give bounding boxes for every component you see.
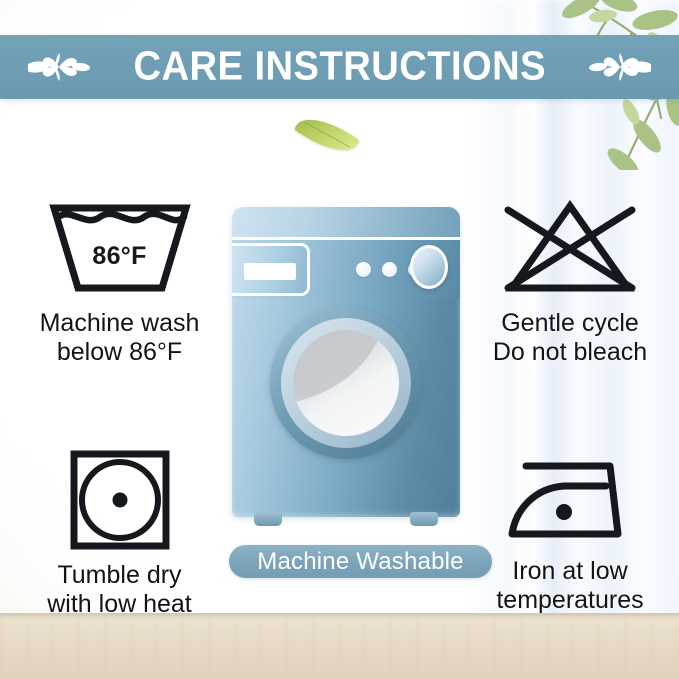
table-surface-grain (0, 619, 679, 679)
symbol-do-not-bleach: Gentle cycle Do not bleach (470, 196, 670, 367)
symbol-iron: Iron at low temperatures (470, 452, 670, 615)
machine-door-highlight (293, 330, 399, 404)
header-banner: CARE INSTRUCTIONS (0, 35, 679, 99)
symbol-caption: Iron at low temperatures (470, 557, 670, 615)
care-instructions-infographic: CARE INSTRUCTIONS 86°F (0, 0, 679, 679)
wash-tub-icon: 86°F (12, 196, 227, 300)
badge-label: Machine Washable (257, 548, 463, 576)
symbol-caption: Tumble dry with low heat (12, 561, 227, 619)
symbol-tumble-dry: Tumble dry with low heat (12, 448, 227, 619)
machine-foot-left (254, 512, 282, 526)
detergent-drawer (232, 243, 310, 296)
machine-button (382, 262, 397, 277)
machine-foot-right (410, 512, 438, 526)
machine-door-inner-ring (281, 318, 411, 448)
machine-door-outer-ring (270, 307, 422, 459)
symbol-caption: Gentle cycle Do not bleach (470, 309, 670, 367)
machine-top-lid (232, 207, 460, 240)
page-title: CARE INSTRUCTIONS (0, 43, 679, 90)
machine-washable-badge: Machine Washable (229, 545, 492, 578)
fleur-de-lis-icon-right (589, 45, 651, 89)
detergent-drawer-slot (244, 263, 296, 280)
symbol-machine-wash: 86°F Machine wash below 86°F (12, 196, 227, 367)
symbol-caption: Machine wash below 86°F (12, 309, 227, 367)
wash-temperature-value: 86°F (12, 242, 227, 271)
machine-button (356, 262, 371, 277)
machine-door-glass (293, 330, 399, 436)
machine-program-dial (410, 245, 448, 289)
tumble-dry-square-icon (12, 448, 227, 552)
washing-machine-illustration (232, 207, 460, 525)
triangle-crossed-icon (470, 196, 670, 300)
iron-icon (470, 452, 670, 548)
